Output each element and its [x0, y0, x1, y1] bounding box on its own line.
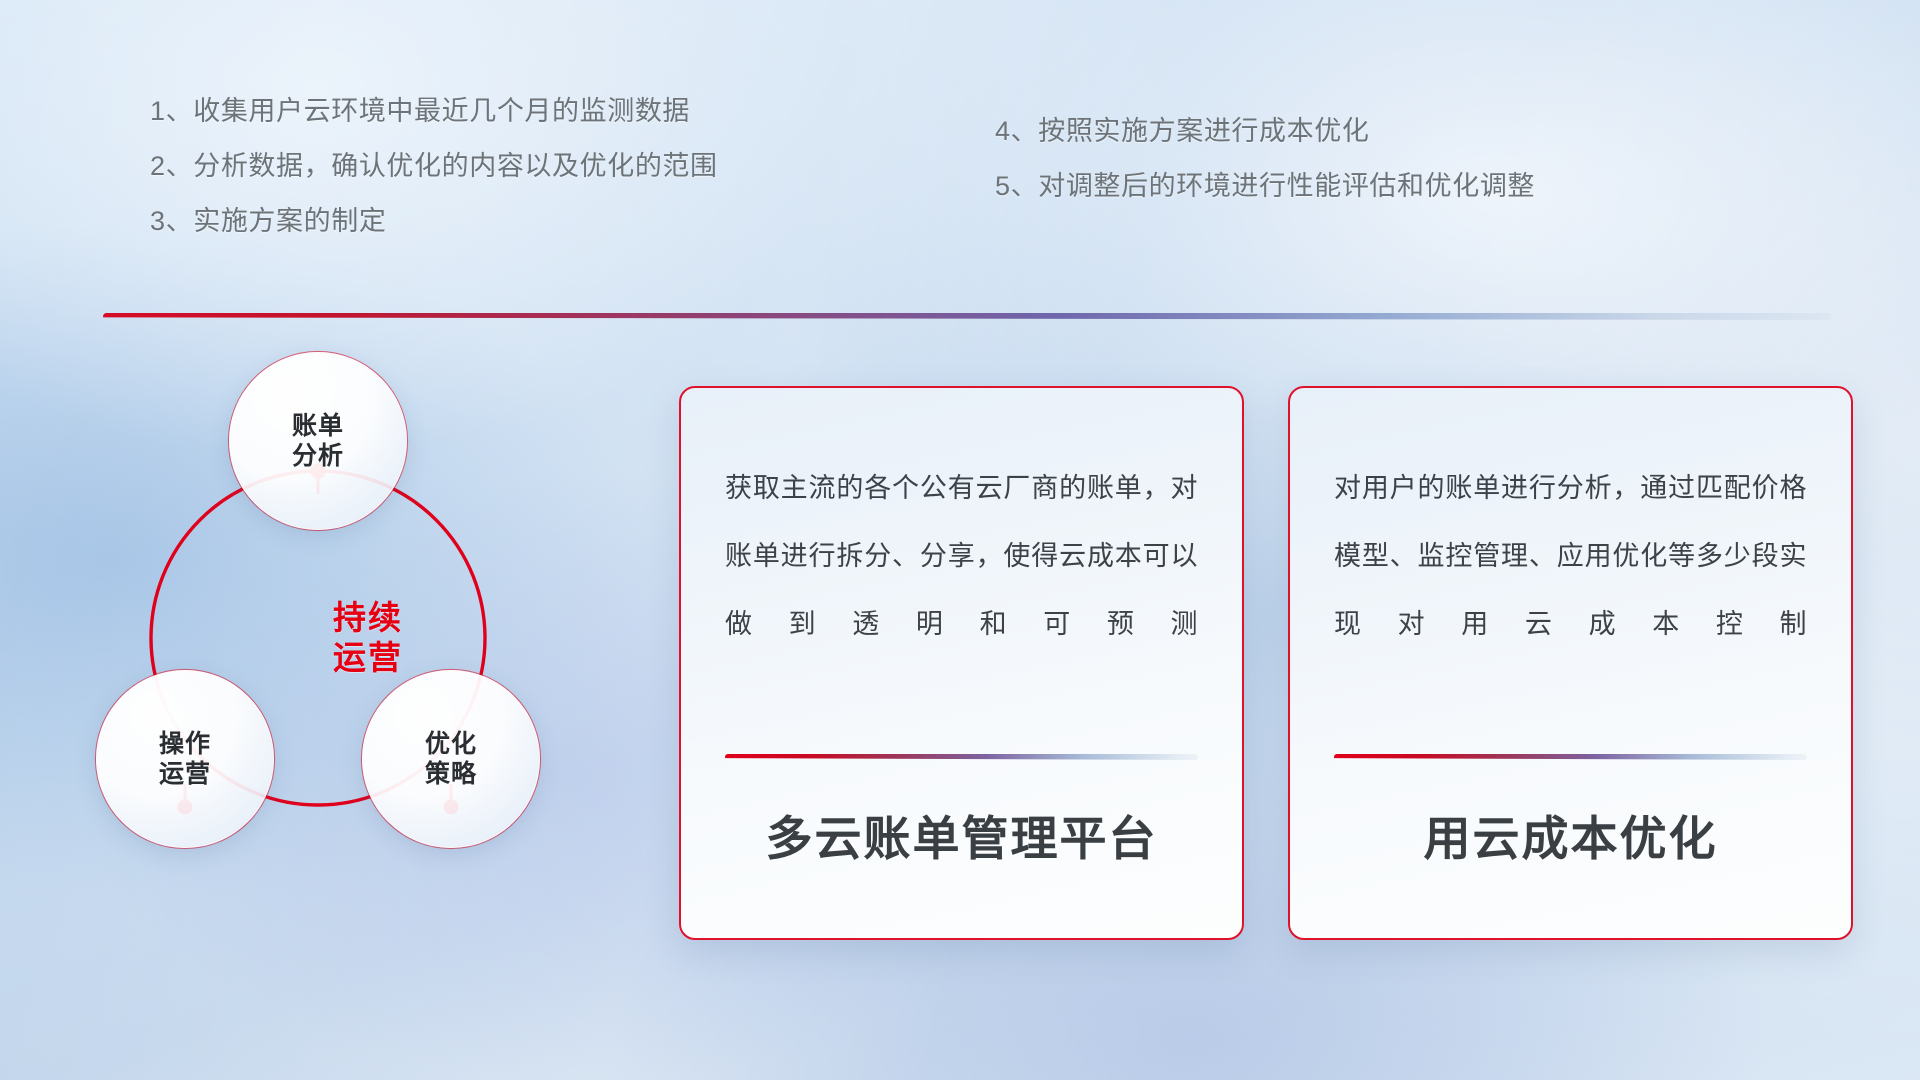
venn-center-label-wrap: 持续 运营 — [268, 578, 468, 698]
bullet-list-right: 4、按照实施方案进行成本优化 5、对调整后的环境进行性能评估和优化调整 — [995, 118, 1535, 228]
card-title: 用云成本优化 — [1290, 800, 1851, 869]
bullet-item: 4、按照实施方案进行成本优化 — [995, 118, 1535, 145]
bullet-item: 5、对调整后的环境进行性能评估和优化调整 — [995, 173, 1535, 200]
feature-card-multicloud-billing[interactable]: 获取主流的各个公有云厂商的账单，对账单进行拆分、分享，使得云成本可以做到透明和可… — [679, 386, 1244, 940]
card-title: 多云账单管理平台 — [681, 800, 1242, 869]
bullet-list-left: 1、收集用户云环境中最近几个月的监测数据 2、分析数据，确认优化的内容以及优化的… — [150, 98, 718, 263]
bullet-item: 3、实施方案的制定 — [150, 208, 718, 235]
feature-card-cloud-cost-optimization[interactable]: 对用户的账单进行分析，通过匹配价格模型、监控管理、应用优化等多少段实现对用云成本… — [1288, 386, 1853, 940]
venn-lobe-label: 操作 运营 — [159, 729, 211, 790]
venn-center-label: 持续 运营 — [333, 598, 403, 677]
continuous-operation-venn-diagram: 账单 分析 操作 运营 优化 策略 持续 运营 — [96, 352, 616, 912]
venn-lobe-operations[interactable]: 操作 运营 — [96, 670, 274, 848]
venn-lobe-label: 账单 分析 — [292, 411, 344, 472]
venn-lobe-billing-analysis[interactable]: 账单 分析 — [229, 352, 407, 530]
card-description: 获取主流的各个公有云厂商的账单，对账单进行拆分、分享，使得云成本可以做到透明和可… — [725, 454, 1198, 658]
venn-lobe-label: 优化 策略 — [425, 729, 477, 790]
bullet-item: 1、收集用户云环境中最近几个月的监测数据 — [150, 98, 718, 125]
bullet-item: 2、分析数据，确认优化的内容以及优化的范围 — [150, 153, 718, 180]
card-description: 对用户的账单进行分析，通过匹配价格模型、监控管理、应用优化等多少段实现对用云成本… — [1334, 454, 1807, 658]
